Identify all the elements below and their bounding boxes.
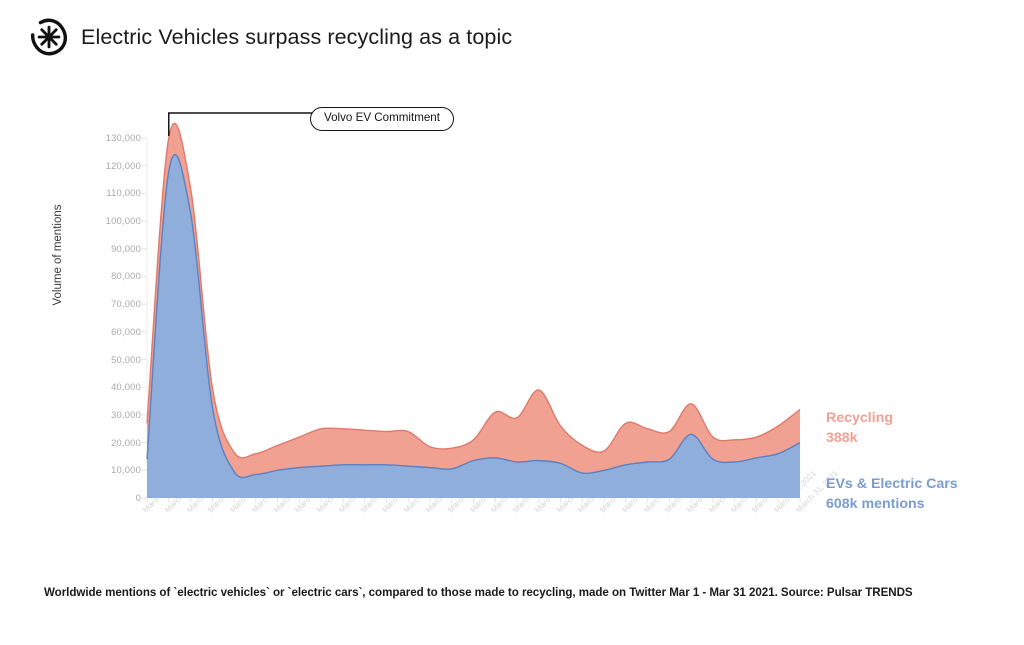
chart-container: Volume of mentions 010,00020,00030,00040… xyxy=(0,0,1024,645)
series-layer xyxy=(147,123,800,498)
legend-value: 608k mentions xyxy=(826,494,958,514)
legend-item-evs[interactable]: EVs & Electric Cars 608k mentions xyxy=(826,474,958,514)
series-recycling xyxy=(147,123,800,498)
chart-caption: Worldwide mentions of `electric vehicles… xyxy=(44,586,913,599)
annotation-leader-line xyxy=(169,113,312,136)
legend-value: 388k xyxy=(826,428,958,448)
series-area-fill xyxy=(147,123,800,498)
area-chart-plot xyxy=(0,0,1024,645)
chart-legend: Recycling 388k EVs & Electric Cars 608k … xyxy=(826,408,958,515)
gridlines xyxy=(139,138,147,498)
annotation-callout[interactable]: Volvo EV Commitment xyxy=(310,107,454,131)
x-tick-marks xyxy=(147,498,800,503)
legend-item-recycling[interactable]: Recycling 388k xyxy=(826,408,958,448)
series-line xyxy=(147,123,800,458)
legend-label: EVs & Electric Cars xyxy=(826,474,958,494)
leader-line xyxy=(169,113,312,136)
legend-label: Recycling xyxy=(826,408,958,428)
